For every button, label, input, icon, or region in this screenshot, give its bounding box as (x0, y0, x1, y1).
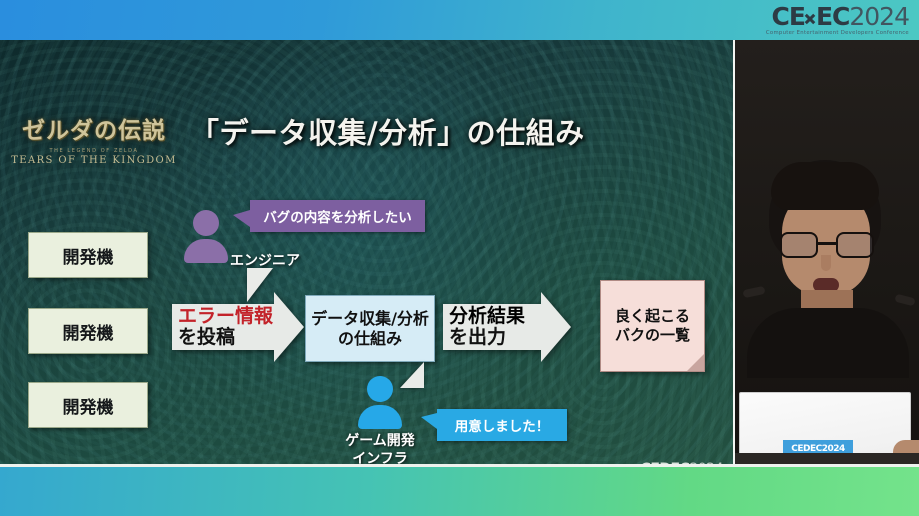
arrow2-line1: 分析結果 (449, 306, 525, 327)
avatar-head (367, 376, 393, 402)
glasses-bridge (818, 242, 836, 245)
cedec-logo-wordmark: CEEC2024 (766, 4, 909, 29)
document-fold-icon (687, 354, 704, 371)
cedec-logo-tagline: Computer Entertainment Developers Confer… (766, 31, 909, 36)
avatar-body (358, 405, 402, 429)
infra-speech-text: 用意しました！ (455, 415, 550, 435)
engineer-avatar-icon (183, 210, 229, 262)
cedec-x-icon (805, 13, 816, 24)
infra-up-pointer-icon (400, 362, 424, 388)
engineer-speech-text: バグの内容を分析したい (263, 206, 412, 226)
avatar-head (193, 210, 219, 236)
speaker-shoulders (747, 308, 909, 378)
bug-list-document: 良く起こる バクの一覧 (600, 280, 705, 372)
speaker-fringe (771, 162, 879, 210)
infra-label: ゲーム開発 インフラ (330, 433, 430, 467)
dev-machine-label: 開発機 (63, 319, 114, 344)
cedec-logo: CEEC2024 Computer Entertainment Develope… (766, 4, 909, 36)
dev-machine-label: 開発機 (63, 243, 114, 268)
center-box-line1: データ収集/分析 (311, 309, 429, 329)
avatar-body (184, 239, 228, 263)
laptop-sticker-text: CEDEC2024 (791, 444, 845, 454)
slide-title: 「データ収集/分析」の仕組み (190, 110, 610, 152)
flow-arrow-post-error: エラー情報 を投稿 (172, 292, 304, 362)
screen: CEEC2024 Computer Entertainment Develope… (0, 0, 919, 516)
speaker-nose (821, 255, 831, 271)
dev-machine-label: 開発機 (63, 393, 114, 418)
zelda-logo-subtitle-en: THE LEGEND OF ZELDA (49, 148, 138, 154)
center-box-line2: の仕組み (338, 329, 402, 349)
zelda-logo-title: ゼルダの伝説 (22, 111, 166, 145)
dev-machine-box: 開発機 (28, 232, 148, 278)
flow-arrow-output-result: 分析結果 を出力 (443, 292, 571, 362)
dev-machine-box: 開発機 (28, 382, 148, 428)
dev-machine-box: 開発機 (28, 308, 148, 354)
infra-label-line1: ゲーム開発 (330, 433, 430, 451)
glasses-lens-left (780, 232, 818, 258)
presentation-slide: ゼルダの伝説 THE LEGEND OF ZELDA TEARS OF THE … (0, 40, 735, 467)
cedec-logo-part1: CE (772, 2, 805, 31)
speaker-video-panel[interactable]: CEDEC2024 (735, 40, 919, 467)
cedec-logo-part2: EC (816, 2, 849, 31)
engineer-speech-bubble: バグの内容を分析したい (250, 200, 425, 232)
arrow1-line1: エラー情報 (178, 306, 273, 327)
top-brand-bar: CEEC2024 Computer Entertainment Develope… (0, 0, 919, 40)
arrow1-line2: を投稿 (178, 327, 235, 348)
slide-content: ゼルダの伝説 THE LEGEND OF ZELDA TEARS OF THE … (0, 40, 735, 467)
document-line1: 良く起こる (615, 307, 690, 327)
cedec-logo-year: 2024 (849, 2, 909, 31)
infra-speech-bubble: 用意しました！ (437, 409, 567, 441)
document-line2: バクの一覧 (615, 326, 690, 346)
zelda-logo: ゼルダの伝説 THE LEGEND OF ZELDA TEARS OF THE … (10, 102, 178, 174)
arrow2-line2: を出力 (449, 327, 506, 348)
bottom-gradient-bar (0, 467, 919, 516)
engineer-label: エンジニア (230, 250, 300, 270)
arrow-label: 分析結果 を出力 (443, 303, 571, 351)
glasses-lens-right (836, 232, 874, 258)
infra-avatar-icon (357, 376, 403, 428)
data-pipeline-box: データ収集/分析 の仕組み (305, 295, 435, 362)
zelda-logo-subtitle-tok: TEARS OF THE KINGDOM (11, 155, 177, 166)
arrow-label: エラー情報 を投稿 (172, 303, 304, 351)
